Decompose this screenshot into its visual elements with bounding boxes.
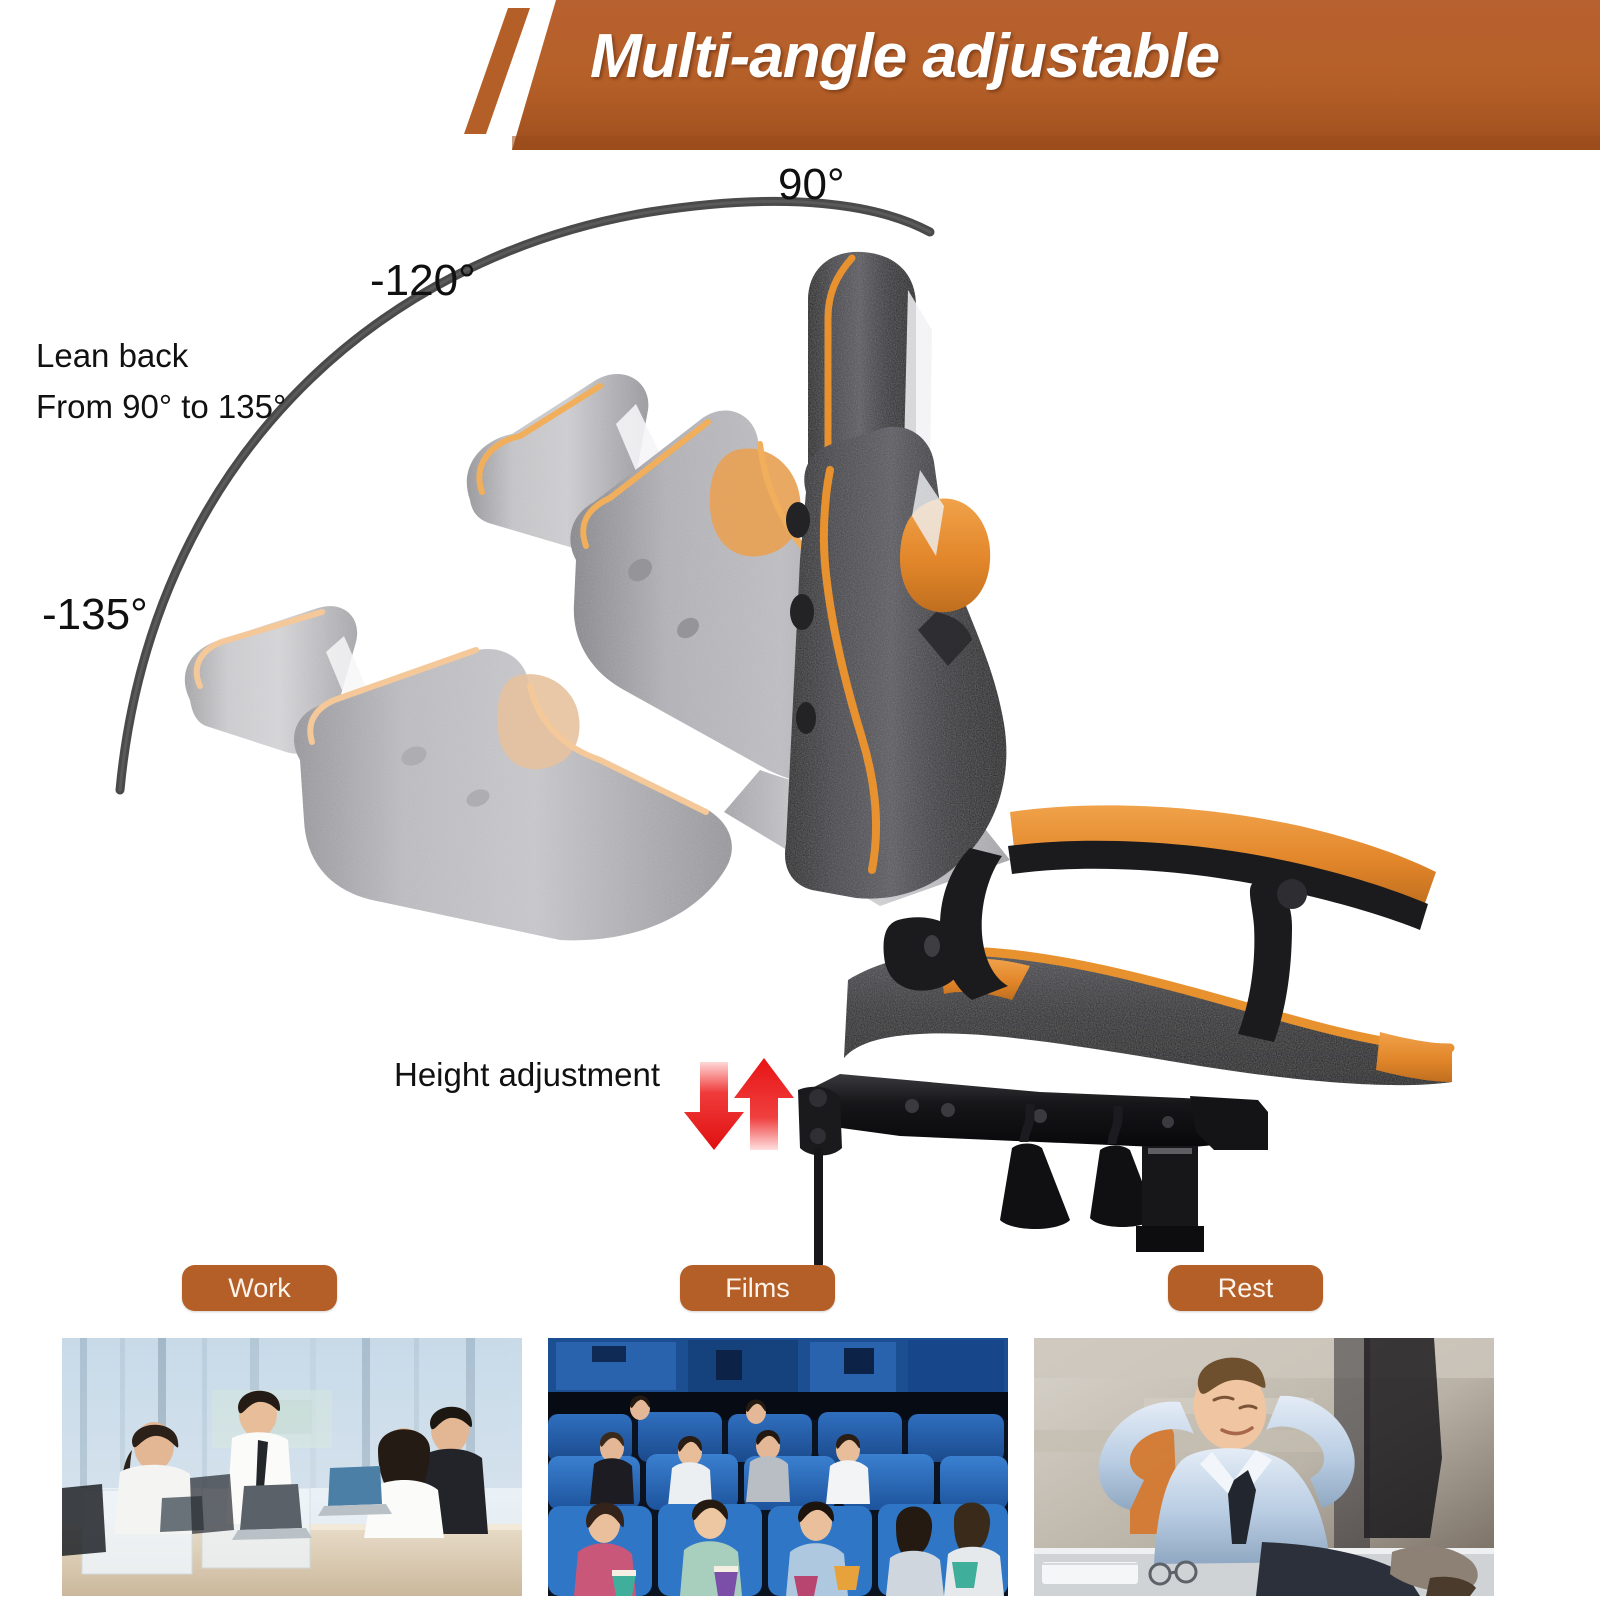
cinema-scene-illustration [548,1338,1008,1596]
gas-cylinder [1142,1146,1198,1232]
use-case-photo-work [62,1338,522,1596]
bracket-bolt [924,935,940,957]
chair-backrest [785,427,1006,899]
use-case-badge-rest: Rest [1168,1265,1323,1311]
arrow-down-icon [684,1062,744,1150]
angle-label-90: 90° [778,160,845,210]
tilt-lever-left [1000,1144,1070,1230]
use-case-photo-rest [1034,1338,1494,1596]
rear-support-rod [814,1148,823,1268]
arrow-up-icon [734,1058,794,1150]
use-case-photo-films [548,1338,1008,1596]
armrest-bracket-plate [884,917,964,990]
gas-cylinder-collar [1136,1226,1204,1252]
chair-main-90 [785,252,1452,1268]
angle-label-120: -120° [370,256,476,306]
lean-back-line1: Lean back [36,330,286,381]
use-case-badge-work: Work [182,1265,337,1311]
lean-back-note: Lean back From 90° to 135° [36,330,286,432]
recline-knob-bottom [796,702,816,734]
height-adjustment-arrows [684,1058,794,1150]
relaxing-man-illustration [1034,1338,1494,1596]
recline-knob-upper [786,502,810,538]
use-case-badge-films: Films [680,1265,835,1311]
lean-back-line2: From 90° to 135° [36,381,286,432]
armrest-pivot [1277,879,1307,909]
infographic-canvas: Multi-angle adjustable [0,0,1600,1600]
angle-label-135: -135° [42,590,148,640]
height-adjustment-label: Height adjustment [394,1056,660,1094]
recline-knob-lower [790,594,814,630]
office-scene-illustration [62,1338,522,1596]
